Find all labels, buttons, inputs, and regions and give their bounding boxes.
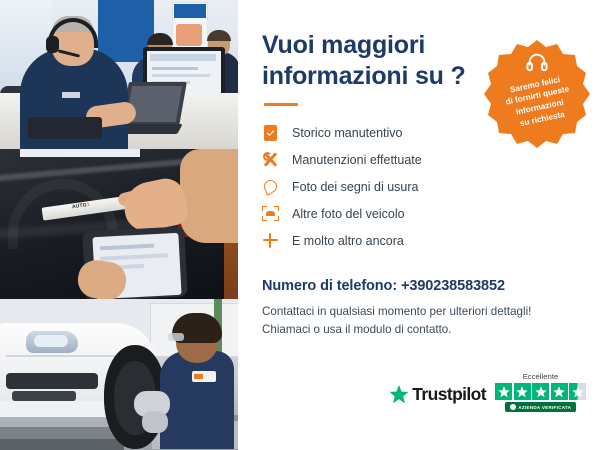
callout-badge: Saremo felici di fornirti queste informa… bbox=[481, 38, 593, 150]
page-title-line-2: informazioni su ? bbox=[262, 62, 466, 90]
poster-banner bbox=[174, 4, 206, 18]
feature-label: Altre foto del veicolo bbox=[292, 207, 405, 221]
star-filled bbox=[495, 383, 512, 400]
badge-text: Saremo felici di fornirti queste informa… bbox=[471, 28, 600, 161]
feature-label: Storico manutentivo bbox=[292, 126, 402, 140]
page-title: Vuoi maggiori informazioni su ? bbox=[262, 30, 477, 91]
car-scan-icon bbox=[262, 205, 279, 222]
verified-business-badge: AZIENDA VERIFICATA bbox=[505, 402, 576, 412]
hood-line bbox=[6, 355, 126, 357]
feature-label: Manutenzioni effettuate bbox=[292, 153, 422, 167]
lift-platform bbox=[0, 427, 124, 439]
contact-subtext-line-1: Contattaci in qualsiasi momento per ulte… bbox=[262, 305, 531, 318]
verified-label: AZIENDA VERIFICATA bbox=[518, 405, 571, 410]
trustpilot-rating: Eccellente bbox=[495, 372, 586, 412]
promo-banner: AUTO1 bbox=[0, 0, 600, 450]
magnifier-icon bbox=[262, 178, 279, 195]
page-title-line-1: Vuoi maggiori bbox=[262, 31, 425, 59]
patch-accent bbox=[194, 374, 203, 379]
headlight-lens bbox=[34, 335, 68, 347]
mechanic-glove-lower bbox=[142, 411, 168, 433]
screen-text-line bbox=[152, 67, 198, 70]
headset-earcup bbox=[46, 36, 59, 53]
desk-tablet bbox=[28, 117, 102, 139]
feature-label: Foto dei segni di usura bbox=[292, 180, 418, 194]
trustpilot-wordmark: Trustpilot bbox=[412, 384, 486, 405]
document-check-icon bbox=[262, 124, 279, 141]
safety-glasses bbox=[168, 333, 184, 341]
background-strip bbox=[20, 149, 140, 157]
tools-cross-icon bbox=[262, 151, 279, 168]
star-filled bbox=[514, 383, 531, 400]
title-underline-rule bbox=[264, 103, 298, 106]
screen-toolbar bbox=[150, 54, 216, 61]
plus-icon bbox=[262, 232, 279, 249]
feature-label: E molto altro ancora bbox=[292, 234, 404, 248]
trustpilot-star-icon bbox=[389, 385, 409, 404]
lift-platform-shadow bbox=[0, 439, 124, 450]
phone-number[interactable]: +390238583852 bbox=[401, 278, 505, 294]
front-grille bbox=[6, 373, 98, 389]
photo-column: AUTO1 bbox=[0, 0, 238, 450]
phone-line[interactable]: Numero di telefono: +390238583852 bbox=[262, 278, 578, 294]
contact-subtext-line-2: Chiamaci o usa il modulo di contatto. bbox=[262, 323, 451, 336]
trustpilot-brand: Trustpilot bbox=[389, 384, 486, 412]
lower-grille bbox=[12, 391, 76, 401]
trustpilot-widget[interactable]: Trustpilot Eccellente bbox=[389, 372, 586, 412]
mechanic-body bbox=[160, 351, 234, 449]
contact-subtext: Contattaci in qualsiasi momento per ulte… bbox=[262, 303, 578, 339]
phone-label: Numero di telefono: bbox=[262, 278, 397, 294]
content-panel: Vuoi maggiori informazioni su ? Storico … bbox=[238, 0, 600, 450]
star-rating bbox=[495, 383, 586, 400]
workshop-lift-photo bbox=[0, 299, 238, 450]
star-filled bbox=[551, 383, 568, 400]
rating-word: Eccellente bbox=[523, 372, 559, 381]
inspector-arm bbox=[180, 149, 238, 243]
poster-image bbox=[176, 24, 202, 46]
feature-item-wear-photos[interactable]: Foto dei segni di usura bbox=[262, 173, 578, 200]
check-circle-icon bbox=[510, 404, 516, 410]
feature-item-more[interactable]: E molto altro ancora bbox=[262, 227, 578, 254]
star-half bbox=[569, 383, 586, 400]
feature-item-vehicle-photos[interactable]: Altre foto del veicolo bbox=[262, 200, 578, 227]
uniform-logo-patch bbox=[192, 371, 216, 382]
call-center-photo bbox=[0, 0, 238, 149]
ruler-brand-post: 1 bbox=[86, 202, 90, 208]
star-filled bbox=[532, 383, 549, 400]
vehicle-inspection-photo: AUTO1 bbox=[0, 149, 238, 299]
screen-text-line bbox=[152, 74, 210, 77]
uniform-badge bbox=[62, 92, 80, 98]
contact-block: Numero di telefono: +390238583852 Contat… bbox=[262, 278, 578, 339]
